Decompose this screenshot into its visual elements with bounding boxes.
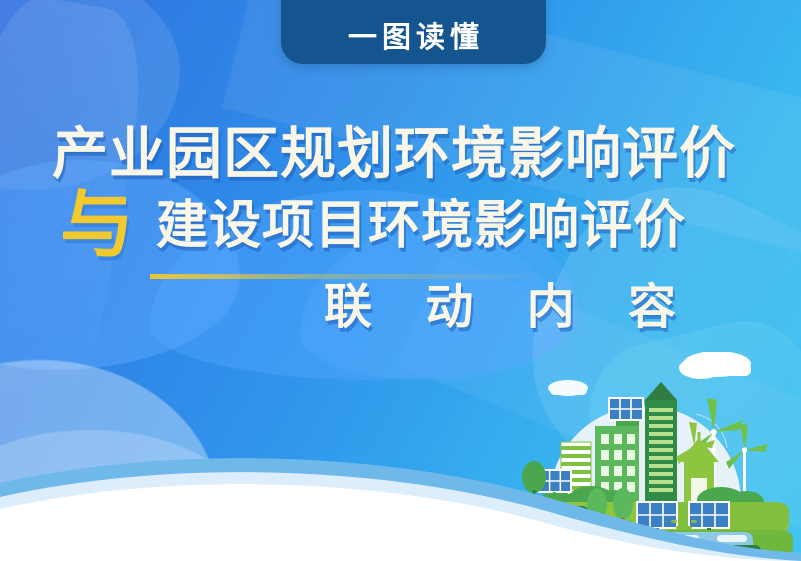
title-line-2: 建设项目环境影响评价	[156, 200, 686, 252]
bottom-wave	[0, 431, 801, 561]
page-title: 产业园区规划环境影响评价 与 建设项目环境影响评价 联 动 内 容	[0, 126, 700, 332]
solar-panel-roof	[609, 398, 643, 420]
title-line-3: 联 动 内 容	[324, 284, 700, 332]
cloud-icon	[679, 352, 751, 379]
title-line-1: 产业园区规划环境影响评价	[52, 126, 700, 182]
title-accent-rule	[150, 274, 800, 279]
title-conjunction: 与	[60, 188, 134, 262]
infographic-poster: 一图读懂 产业园区规划环境影响评价 与 建设项目环境影响评价 联 动 内 容	[0, 0, 801, 561]
bottom-wave-svg	[0, 431, 801, 561]
cloud-icon	[548, 380, 588, 396]
title-row-2: 与 建设项目环境影响评价	[0, 196, 700, 258]
ribbon-tab: 一图读懂	[281, 0, 546, 64]
ribbon-tab-label: 一图读懂	[343, 24, 484, 53]
